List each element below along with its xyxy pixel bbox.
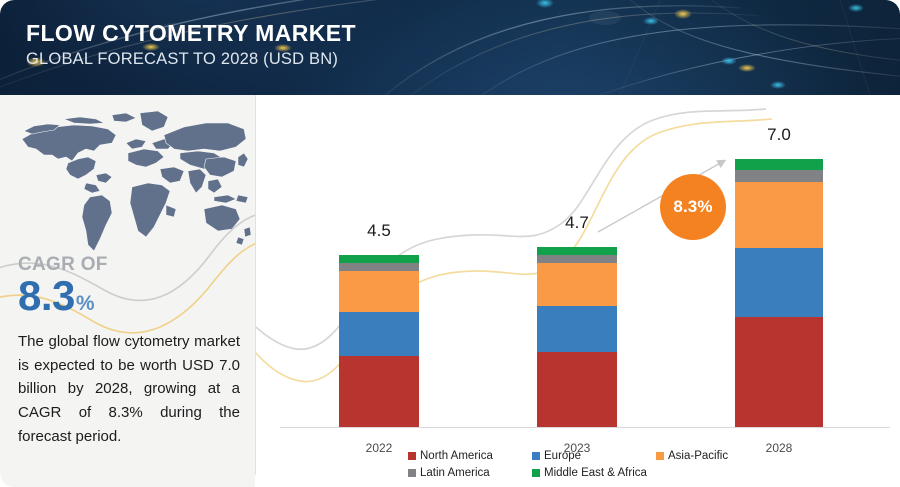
x-axis-line [280, 427, 890, 428]
bar-total-label-2028: 7.0 [735, 125, 823, 145]
segment-asia-pacific[interactable] [339, 271, 419, 312]
legend-item-north-america[interactable]: North America [408, 447, 526, 464]
legend-swatch-icon [532, 469, 540, 477]
infographic-root: FLOW CYTOMETRY MARKET GLOBAL FORECAST TO… [0, 0, 900, 487]
legend-item-latin-america[interactable]: Latin America [408, 464, 526, 481]
legend-item-asia-pacific[interactable]: Asia-Pacific [656, 447, 774, 464]
plot-area: 4.5 2022 4.7 [256, 95, 900, 487]
cagr-highlight: CAGR OF 8.3 % [18, 255, 108, 317]
segment-middle-east-africa[interactable] [537, 247, 617, 255]
bar-total-label-2022: 4.5 [339, 221, 419, 241]
x-tick-label-2022: 2022 [339, 441, 419, 455]
chart-panel: 4.5 2022 4.7 [256, 95, 900, 487]
page-subtitle: GLOBAL FORECAST TO 2028 (USD BN) [26, 50, 356, 69]
cagr-badge-label: 8.3% [673, 197, 712, 217]
cagr-value: 8.3 [18, 275, 75, 317]
segment-europe[interactable] [537, 306, 617, 352]
legend-label: North America [420, 450, 493, 462]
segment-north-america[interactable] [339, 356, 419, 427]
segment-north-america[interactable] [537, 352, 617, 427]
segment-latin-america[interactable] [537, 255, 617, 263]
stacked-bar-2028[interactable] [735, 159, 823, 427]
segment-middle-east-africa[interactable] [735, 159, 823, 170]
legend-swatch-icon [408, 452, 416, 460]
legend-swatch-icon [408, 469, 416, 477]
stacked-bar-2023[interactable] [537, 247, 617, 427]
segment-asia-pacific[interactable] [735, 182, 823, 248]
bar-group-2023: 4.7 2023 [537, 155, 617, 427]
cagr-badge[interactable]: 8.3% [660, 174, 726, 240]
summary-paragraph: The global flow cytometry market is expe… [18, 330, 240, 448]
legend-label: Europe [544, 450, 581, 462]
world-map-icon [8, 105, 252, 255]
world-map [8, 105, 252, 255]
legend-swatch-icon [532, 452, 540, 460]
chart-legend: North America Europe Asia-Pacific Latin … [408, 447, 828, 481]
legend-label: Latin America [420, 467, 490, 479]
segment-europe[interactable] [339, 312, 419, 356]
segment-latin-america[interactable] [735, 170, 823, 182]
segment-latin-america[interactable] [339, 263, 419, 271]
segment-asia-pacific[interactable] [537, 263, 617, 306]
cagr-percent-symbol: % [76, 293, 95, 314]
legend-item-europe[interactable]: Europe [532, 447, 650, 464]
segment-north-america[interactable] [735, 317, 823, 427]
legend-label: Asia-Pacific [668, 450, 728, 462]
bar-total-label-2023: 4.7 [537, 213, 617, 233]
bar-group-2028: 7.0 2028 [735, 127, 823, 427]
sidebar-panel: CAGR OF 8.3 % The global flow cytometry … [0, 95, 255, 487]
legend-item-middle-east-africa[interactable]: Middle East & Africa [532, 464, 692, 481]
body-area: CAGR OF 8.3 % The global flow cytometry … [0, 95, 900, 487]
bar-group-2022: 4.5 2022 [339, 155, 419, 427]
legend-label: Middle East & Africa [544, 467, 647, 479]
legend-swatch-icon [656, 452, 664, 460]
stacked-bar-2022[interactable] [339, 255, 419, 427]
segment-middle-east-africa[interactable] [339, 255, 419, 263]
page-title: FLOW CYTOMETRY MARKET [26, 21, 356, 47]
segment-europe[interactable] [735, 248, 823, 317]
header-banner: FLOW CYTOMETRY MARKET GLOBAL FORECAST TO… [0, 0, 900, 95]
